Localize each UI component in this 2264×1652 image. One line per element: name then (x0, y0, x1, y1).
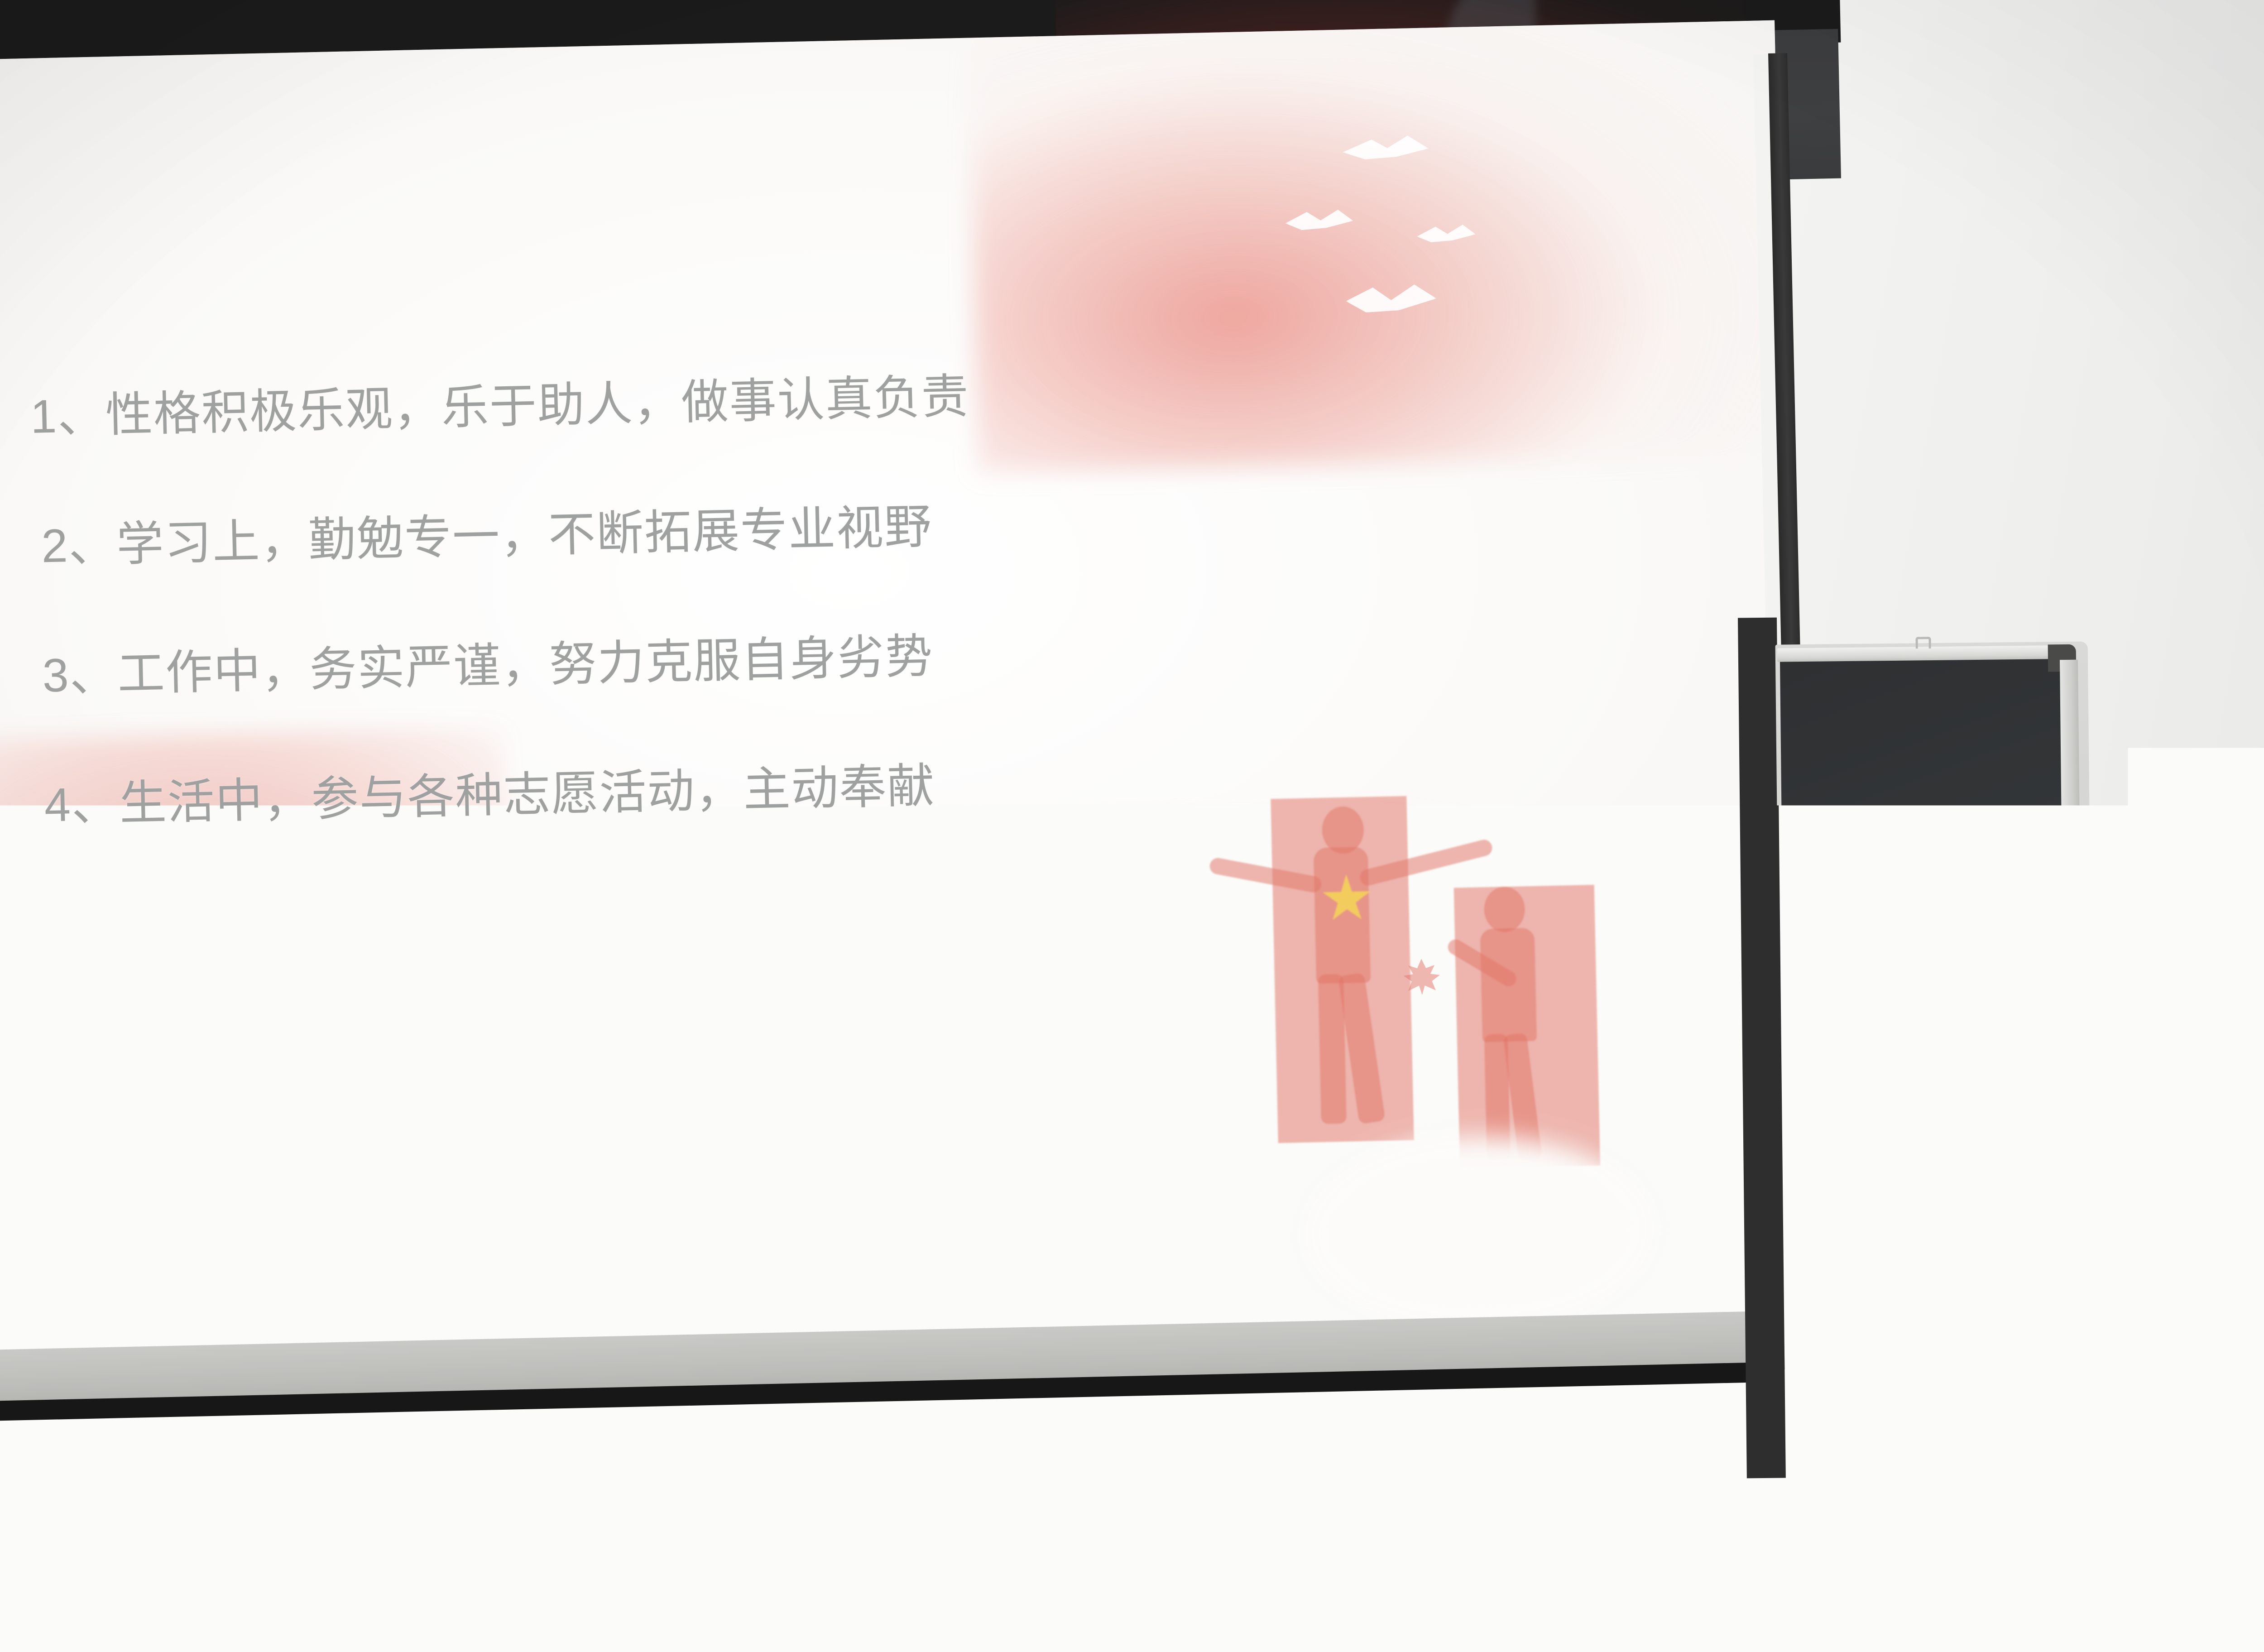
shoulder-right (1997, 1413, 2133, 1648)
microphone-grille (1872, 1275, 1935, 1366)
badge-card: 工作证 (1923, 1594, 2005, 1652)
badge-yellow-shape (1946, 1597, 1987, 1652)
child-silhouette-left (1136, 864, 1278, 1157)
star-icon (565, 1080, 571, 1087)
screenshot-root: 1、性格积极乐观，乐于助人，做事认真负责 2、学习上，勤勉专一，不断拓展专业视野… (0, 0, 2264, 1652)
star-icon (574, 1094, 581, 1100)
finger (1877, 1442, 1943, 1464)
teeth (1903, 1255, 1942, 1262)
flag-cloth (500, 1037, 638, 1144)
star-icon (558, 1119, 565, 1125)
star-icon (541, 1086, 559, 1105)
blackboard-hook (1915, 637, 1931, 648)
slide-bullet-4: 4、生活中，参与各种志愿活动，主动奉献 (44, 755, 1262, 829)
star-icon (571, 1109, 577, 1115)
child-silhouette-right (1454, 885, 1600, 1169)
badge-slot (1952, 1580, 1977, 1590)
presenter: 工作证 (1784, 1023, 2128, 1652)
slide-bullet-2: 2、学习上，勤勉专一，不断拓展专业视野 (41, 496, 1256, 570)
slide-bullet-3: 3、工作中，务实严谨，努力克服自身劣势 (42, 626, 1259, 700)
slide-bullet-1: 1、性格积极乐观，乐于助人，做事认真负责 (30, 367, 1253, 441)
slide-canvas: 1、性格积极乐观，乐于助人，做事认真负责 2、学习上，勤勉专一，不断拓展专业视野… (0, 20, 1804, 1390)
badge-logo-icon (1927, 1599, 1941, 1613)
id-badge: 工作证 (1916, 1574, 2011, 1652)
slide-bullet-list: 1、性格积极乐观，乐于助人，做事认真负责 2、学习上，勤勉专一，不断拓展专业视野… (30, 367, 1263, 912)
projection-screen: 1、性格积极乐观，乐于助人，做事认真负责 2、学习上，勤勉专一，不断拓展专业视野… (0, 20, 1804, 1390)
badge-label: 工作证 (1923, 1648, 2005, 1652)
child-silhouette-center (1271, 796, 1414, 1143)
